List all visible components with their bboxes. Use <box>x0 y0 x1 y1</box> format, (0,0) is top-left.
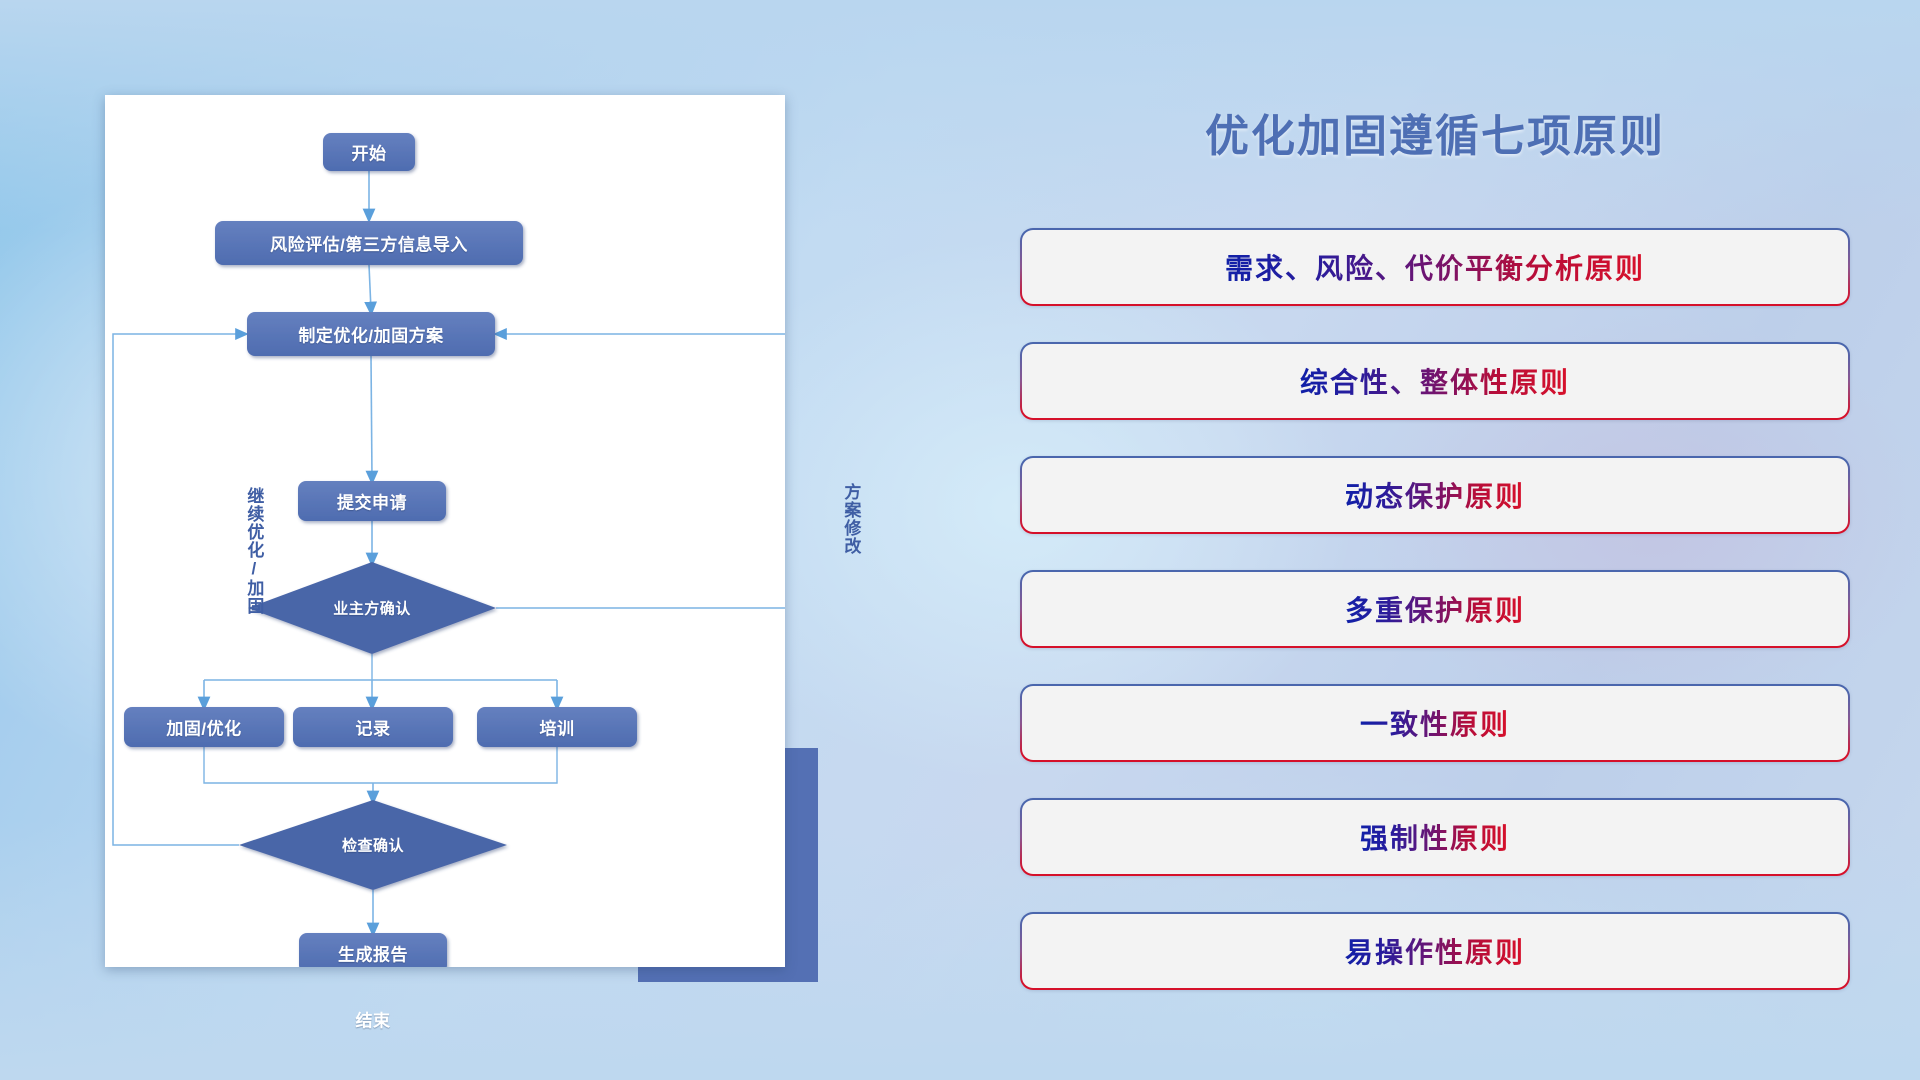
principle-card-1[interactable]: 需求、风险、代价平衡分析原则 <box>1020 228 1850 306</box>
principle-card-3[interactable]: 动态保护原则 <box>1020 456 1850 534</box>
principle-card-5[interactable]: 一致性原则 <box>1020 684 1850 762</box>
principle-card-6[interactable]: 强制性原则 <box>1020 798 1850 876</box>
principle-label-4: 多重保护原则 <box>1345 589 1525 629</box>
principles-title: 优化加固遵循七项原则 <box>1020 100 1850 164</box>
principle-card-2[interactable]: 综合性、整体性原则 <box>1020 342 1850 420</box>
principle-card-inner: 动态保护原则 <box>1022 458 1848 532</box>
principle-label-7: 易操作性原则 <box>1345 931 1525 971</box>
flowchart-card: 开始 风险评估/第三方信息导入 制定优化/加固方案 提交申请 业主方确认 加固/… <box>105 95 785 967</box>
principle-label-2: 综合性、整体性原则 <box>1300 361 1570 401</box>
flow-edge-label-plan-revision: 方案修改 <box>842 483 859 555</box>
principle-label-3: 动态保护原则 <box>1345 475 1525 515</box>
principle-label-1: 需求、风险、代价平衡分析原则 <box>1225 247 1645 287</box>
principle-card-7[interactable]: 易操作性原则 <box>1020 912 1850 990</box>
principle-card-inner: 多重保护原则 <box>1022 572 1848 646</box>
principle-card-inner: 综合性、整体性原则 <box>1022 344 1848 418</box>
principle-card-inner: 易操作性原则 <box>1022 914 1848 988</box>
flowchart-diagram <box>105 95 785 967</box>
principle-card-inner: 强制性原则 <box>1022 800 1848 874</box>
principle-label-6: 强制性原则 <box>1360 817 1510 857</box>
principle-card-inner: 一致性原则 <box>1022 686 1848 760</box>
principle-card-4[interactable]: 多重保护原则 <box>1020 570 1850 648</box>
flow-edge-label-continue-optimize: 继续优化/加固 <box>245 487 262 615</box>
principles-panel: 优化加固遵循七项原则 需求、风险、代价平衡分析原则 综合性、整体性原则 动态保护… <box>1020 100 1850 1000</box>
principles-list: 需求、风险、代价平衡分析原则 综合性、整体性原则 动态保护原则 多重保护原则 一… <box>1020 228 1850 1026</box>
principle-card-inner: 需求、风险、代价平衡分析原则 <box>1022 230 1848 304</box>
principle-label-5: 一致性原则 <box>1360 703 1510 743</box>
